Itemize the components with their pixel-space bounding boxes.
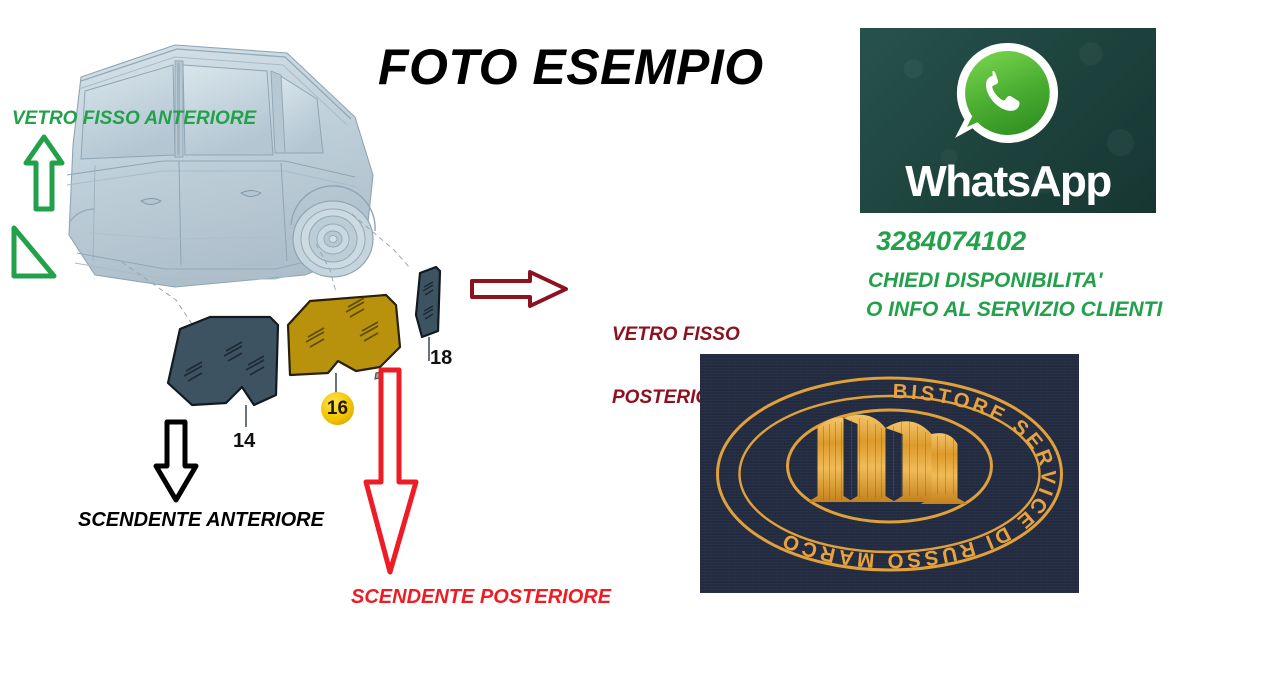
screenshot-canvas: 14 16 17 18 FOTO ESEMPIO VETRO FISSO ANT…	[0, 0, 1264, 678]
page-title: FOTO ESEMPIO	[378, 38, 764, 96]
down-arrow-red-icon	[362, 366, 420, 578]
right-arrow-maroon-icon	[468, 268, 570, 310]
label-scendente-anteriore: SCENDENTE ANTERIORE	[78, 509, 324, 531]
shop-logo: MRICAMBISTORE SERVICE DI RUSSO MARCO SIA…	[700, 354, 1079, 593]
whatsapp-banner[interactable]: WhatsApp	[860, 28, 1156, 213]
label-vetro-fisso-posteriore-line1: VETRO FISSO	[612, 324, 740, 345]
exploded-glass-parts	[150, 255, 480, 435]
part-14-front-drop-glass	[168, 317, 278, 405]
label-scendente-posteriore: SCENDENTE POSTERIORE	[351, 586, 611, 608]
contact-line-1: CHIEDI DISPONIBILITA'	[868, 269, 1102, 293]
part-number-18: 18	[430, 347, 452, 370]
part-number-16-label: 16	[327, 398, 348, 420]
part-16-rear-drop-glass	[288, 295, 400, 375]
whatsapp-logo-icon	[947, 38, 1069, 160]
down-arrow-black-icon	[152, 418, 200, 504]
part-number-14: 14	[233, 430, 255, 453]
shop-logo-tagline-microtext: SIAMO SEMPRE AL SERVIZIO DEL CLIENTE PER…	[700, 354, 703, 356]
whatsapp-wordmark: WhatsApp	[860, 157, 1156, 207]
part-18-quarter-fixed-glass	[416, 267, 440, 337]
shop-logo-emblem-icon: MRICAMBISTORE SERVICE DI RUSSO MARCO SIA…	[700, 354, 1079, 593]
whatsapp-phone-number[interactable]: 3284074102	[876, 226, 1026, 257]
triangle-green-icon	[8, 222, 60, 284]
part-number-16-badge: 16	[321, 392, 354, 425]
svg-text:SIAMO SEMPRE AL SERVIZIO DEL C: SIAMO SEMPRE AL SERVIZIO DEL CLIENTE PER…	[700, 354, 703, 356]
label-vetro-fisso-anteriore: VETRO FISSO ANTERIORE	[12, 108, 256, 129]
shop-logo-monogram	[808, 415, 969, 504]
up-arrow-green-icon	[22, 133, 66, 213]
contact-line-2: O INFO AL SERVIZIO CLIENTI	[866, 298, 1162, 322]
